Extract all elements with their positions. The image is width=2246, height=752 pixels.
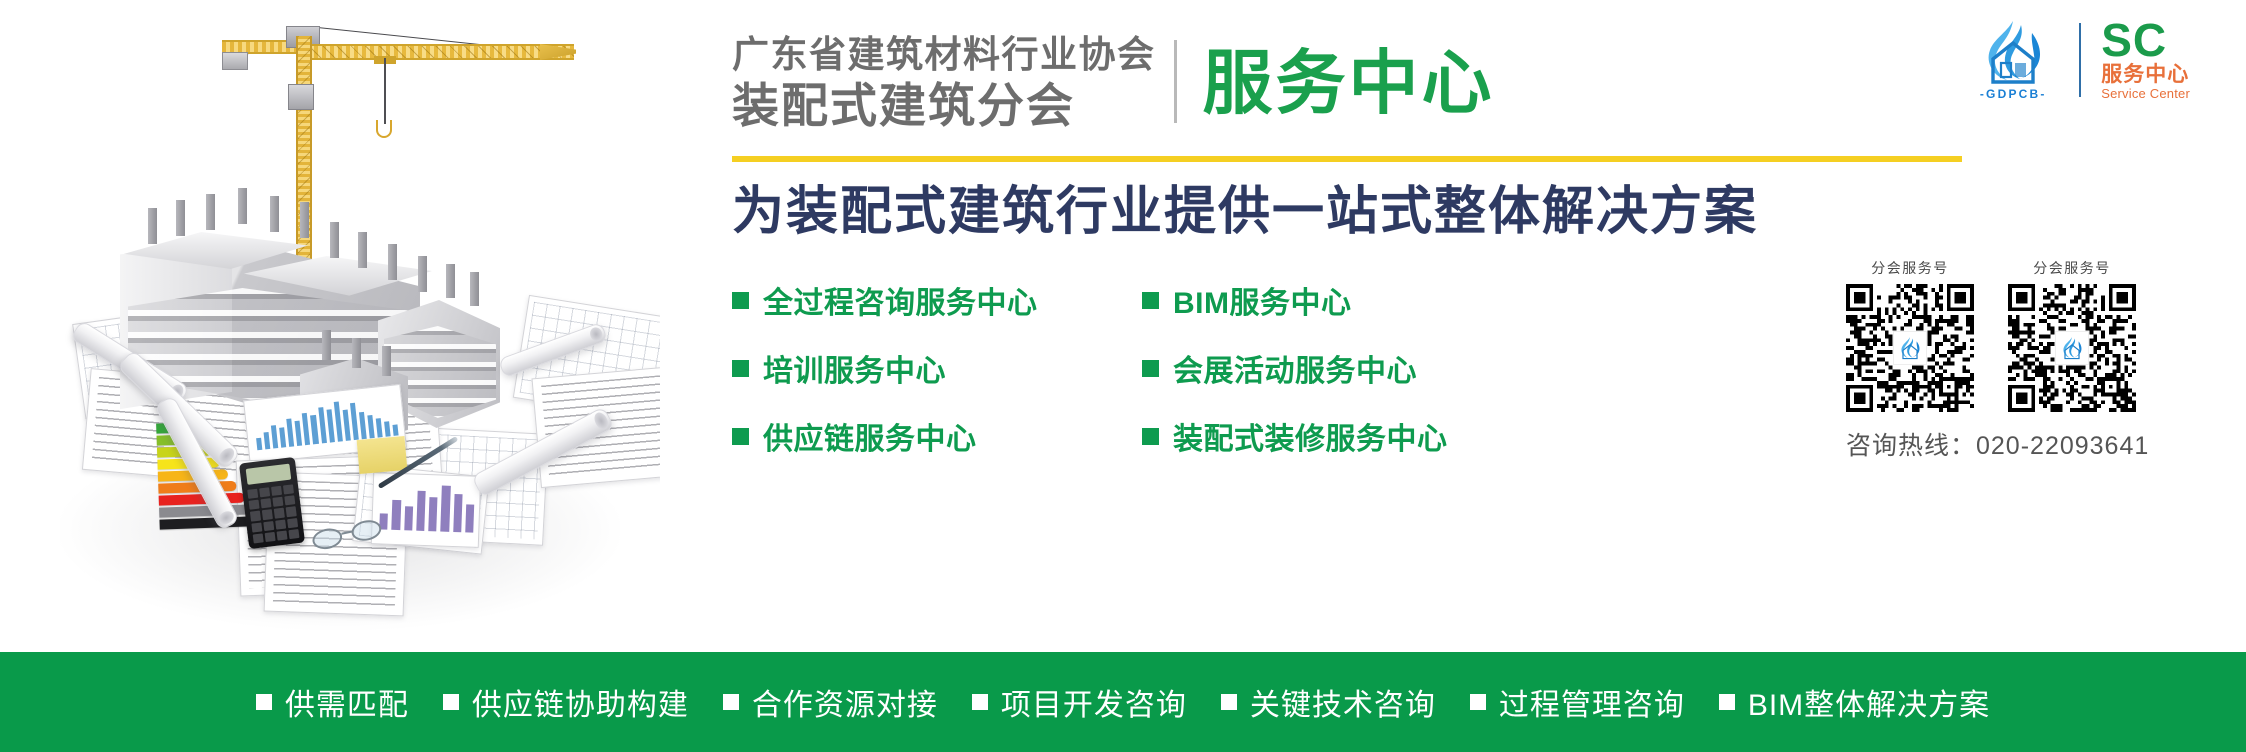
rebar-column <box>322 330 331 360</box>
square-bullet-icon <box>1470 694 1486 710</box>
service-center-label: 全过程咨询服务中心 <box>763 278 1038 322</box>
square-bullet-icon <box>1142 292 1159 309</box>
service-center-item[interactable]: 供应链服务中心 <box>732 414 1142 458</box>
qr-code-label: 分会服务号 <box>2008 258 2136 278</box>
rebar-column <box>352 338 361 368</box>
bottom-service-tag-bar: 供需匹配供应链协助构建合作资源对接项目开发咨询关键技术咨询过程管理咨询BIM整体… <box>0 652 2246 752</box>
content-area: 广东省建筑材料行业协会 装配式建筑分会 服务中心 为装配式建筑行业提供一站式整体… <box>660 0 2246 652</box>
service-center-title: 服务中心 <box>1177 36 1495 129</box>
service-tag[interactable]: BIM整体解决方案 <box>1719 680 1990 724</box>
qr-code-label: 分会服务号 <box>1846 258 1974 278</box>
association-branch-name: 装配式建筑分会 <box>732 82 1156 129</box>
service-tag[interactable]: 合作资源对接 <box>723 680 938 724</box>
construction-illustration <box>0 0 660 652</box>
service-center-label: 会展活动服务中心 <box>1173 346 1417 390</box>
service-center-item[interactable]: 装配式装修服务中心 <box>1142 414 1852 458</box>
calculator-keys <box>247 484 299 543</box>
service-center-item[interactable]: 会展活动服务中心 <box>1142 346 1852 390</box>
square-bullet-icon <box>732 360 749 377</box>
crane-hook <box>376 120 392 138</box>
crane-hoist-cable <box>384 58 386 124</box>
qr-center-logo-icon <box>2055 331 2089 365</box>
service-center-label: 培训服务中心 <box>763 346 946 390</box>
rebar-column <box>358 232 367 268</box>
logo-block: -GDPCB- SC 服务中心 Service Center <box>1967 14 2190 106</box>
gdpcb-wordmark: -GDPCB- <box>1980 87 2047 101</box>
qr-block: 分会服务号分会服务号 咨询热线：020-22093641 <box>1846 258 2196 462</box>
qr-row: 分会服务号分会服务号 <box>1846 258 2196 412</box>
square-bullet-icon <box>1142 428 1159 445</box>
rebar-column <box>148 208 157 244</box>
service-center-item[interactable]: 培训服务中心 <box>732 346 1142 390</box>
rebar-column <box>270 196 279 232</box>
sc-chinese-label: 服务中心 <box>2101 63 2189 86</box>
rebar-column <box>176 200 185 236</box>
yellow-divider-rule <box>732 156 1962 162</box>
rebar-column <box>206 194 215 230</box>
sc-logo: SC 服务中心 Service Center <box>2101 19 2190 100</box>
rebar-column <box>300 202 309 238</box>
rebar-column <box>382 346 391 376</box>
service-tag[interactable]: 关键技术咨询 <box>1221 680 1436 724</box>
house-flame-icon <box>1976 19 2050 85</box>
square-bullet-icon <box>972 694 988 710</box>
crane-operator-cab <box>288 84 314 110</box>
square-bullet-icon <box>732 292 749 309</box>
square-bullet-icon <box>443 694 459 710</box>
title-block: 广东省建筑材料行业协会 装配式建筑分会 服务中心 <box>732 36 1495 129</box>
service-tag[interactable]: 过程管理咨询 <box>1470 680 1685 724</box>
crane-jib <box>306 44 574 60</box>
service-tag[interactable]: 供应链协助构建 <box>443 680 689 724</box>
purple-bars <box>379 483 475 532</box>
service-center-label: 供应链服务中心 <box>763 414 977 458</box>
rebar-column <box>388 244 397 280</box>
gdpcb-logo: -GDPCB- <box>1967 19 2059 101</box>
crane-counterweight <box>222 52 248 70</box>
service-center-label: 装配式装修服务中心 <box>1173 414 1448 458</box>
hotline-text: 咨询热线：020-22093641 <box>1846 426 2196 462</box>
service-tag-label: 项目开发咨询 <box>1001 680 1187 724</box>
page-headline: 为装配式建筑行业提供一站式整体解决方案 <box>732 184 1758 241</box>
qr-code-cell: 分会服务号 <box>1846 258 1974 412</box>
service-tag-label: 合作资源对接 <box>752 680 938 724</box>
square-bullet-icon <box>256 694 272 710</box>
rebar-column <box>238 188 247 224</box>
qr-center-logo-icon <box>1893 331 1927 365</box>
calculator-display <box>246 464 292 485</box>
service-tag-label: 关键技术咨询 <box>1250 680 1436 724</box>
service-tag[interactable]: 供需匹配 <box>256 680 409 724</box>
square-bullet-icon <box>723 694 739 710</box>
rebar-column <box>330 222 339 258</box>
sticky-note <box>357 436 408 474</box>
service-tag-label: 供应链协助构建 <box>472 680 689 724</box>
service-center-label: BIM服务中心 <box>1173 278 1352 322</box>
square-bullet-icon <box>732 428 749 445</box>
sc-letters: SC <box>2101 19 2167 61</box>
rebar-column <box>470 272 479 306</box>
square-bullet-icon <box>1719 694 1735 710</box>
service-tag[interactable]: 项目开发咨询 <box>972 680 1187 724</box>
qr-code-image[interactable] <box>1846 284 1974 412</box>
calculator <box>239 457 305 549</box>
service-tag-label: BIM整体解决方案 <box>1748 680 1990 724</box>
service-tag-label: 供需匹配 <box>285 680 409 724</box>
service-center-list: 全过程咨询服务中心BIM服务中心培训服务中心会展活动服务中心供应链服务中心装配式… <box>732 278 1852 458</box>
sc-english-label: Service Center <box>2101 86 2190 101</box>
service-center-item[interactable]: 全过程咨询服务中心 <box>732 278 1142 322</box>
rebar-column <box>446 264 455 298</box>
service-tag-label: 过程管理咨询 <box>1499 680 1685 724</box>
association-name: 广东省建筑材料行业协会 装配式建筑分会 <box>732 36 1174 129</box>
square-bullet-icon <box>1142 360 1159 377</box>
logo-divider <box>2079 23 2081 97</box>
banner-root: 广东省建筑材料行业协会 装配式建筑分会 服务中心 为装配式建筑行业提供一站式整体… <box>0 0 2246 752</box>
qr-code-cell: 分会服务号 <box>2008 258 2136 412</box>
service-center-item[interactable]: BIM服务中心 <box>1142 278 1852 322</box>
rebar-column <box>418 256 427 292</box>
square-bullet-icon <box>1221 694 1237 710</box>
association-name-line-1: 广东省建筑材料行业协会 <box>732 36 1156 73</box>
qr-code-image[interactable] <box>2008 284 2136 412</box>
